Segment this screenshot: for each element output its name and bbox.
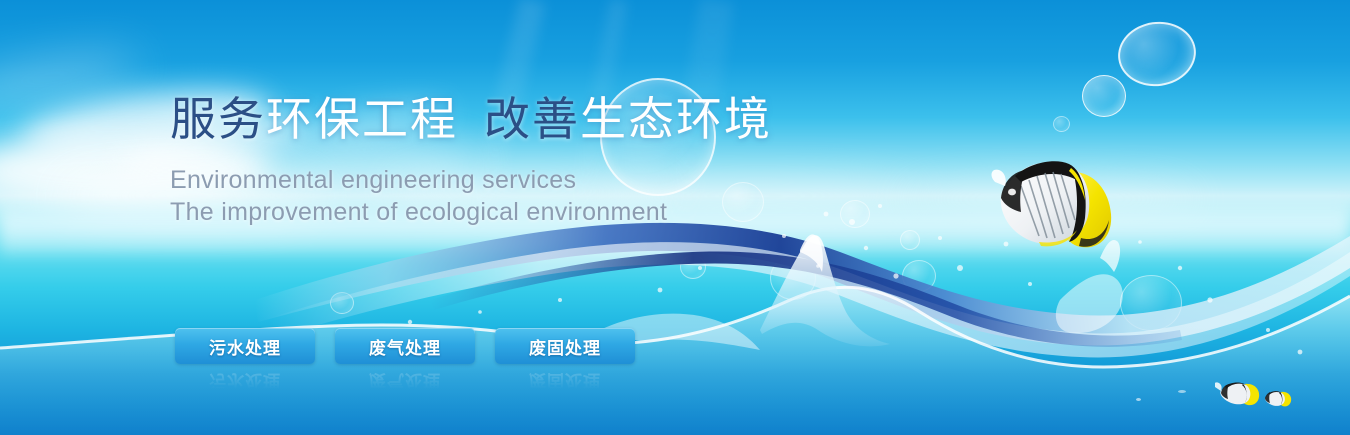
service-button-waste-gas-reflection: 废气处理 [335,365,475,395]
splash-tip [800,234,823,272]
page-title: 服务环保工程改善生态环境 [170,96,772,142]
splash-under-fish [1056,274,1123,333]
headline-block: 服务环保工程改善生态环境 Environmental engineering s… [170,96,772,228]
headline-segment-2-light: 生态环境 [580,93,772,145]
bubble-icon [330,292,354,314]
bubble-icon [1053,116,1070,132]
droplet [1136,398,1141,401]
cloud-graphic [0,45,142,110]
service-button-solid-waste-reflection: 废固处理 [495,365,635,395]
splash-crown [760,235,890,346]
bubble-icon [770,256,816,300]
headline-segment-1-dark: 服务 [170,93,266,145]
service-button-wastewater-reflection: 污水处理 [175,365,315,395]
subtitle-line-1: Environmental engineering services [170,165,772,197]
droplet [1178,390,1186,393]
bubble-icon [1120,275,1182,331]
bubble-icon [1082,75,1126,117]
headline-segment-1-light: 环保工程 [266,93,458,145]
service-button-row: 污水处理 污水处理 废气处理 废气处理 废固处理 废固处理 [175,328,635,364]
service-button-wrapper: 污水处理 污水处理 [175,328,315,364]
headline-segment-2-dark: 改善 [484,93,580,145]
butterflyfish-tiny-icon [1262,388,1292,408]
service-button-solid-waste[interactable]: 废固处理 [495,328,635,364]
splash-droplet-trail [1100,240,1120,272]
bubble-icon [840,200,870,228]
service-button-wrapper: 废气处理 废气处理 [335,328,475,364]
subtitle-line-2: The improvement of ecological environmen… [170,197,772,229]
bubble-icon [900,230,920,250]
hero-banner: 服务环保工程改善生态环境 Environmental engineering s… [0,0,1350,435]
service-button-waste-gas[interactable]: 废气处理 [335,328,475,364]
cloud-graphic [900,182,1200,216]
service-button-wrapper: 废固处理 废固处理 [495,328,635,364]
butterflyfish-icon [985,142,1120,262]
bubble-icon [1114,17,1200,91]
bubble-icon [680,255,706,279]
bubble-icon [902,260,936,292]
service-button-wastewater[interactable]: 污水处理 [175,328,315,364]
butterflyfish-small-icon [1215,378,1261,408]
